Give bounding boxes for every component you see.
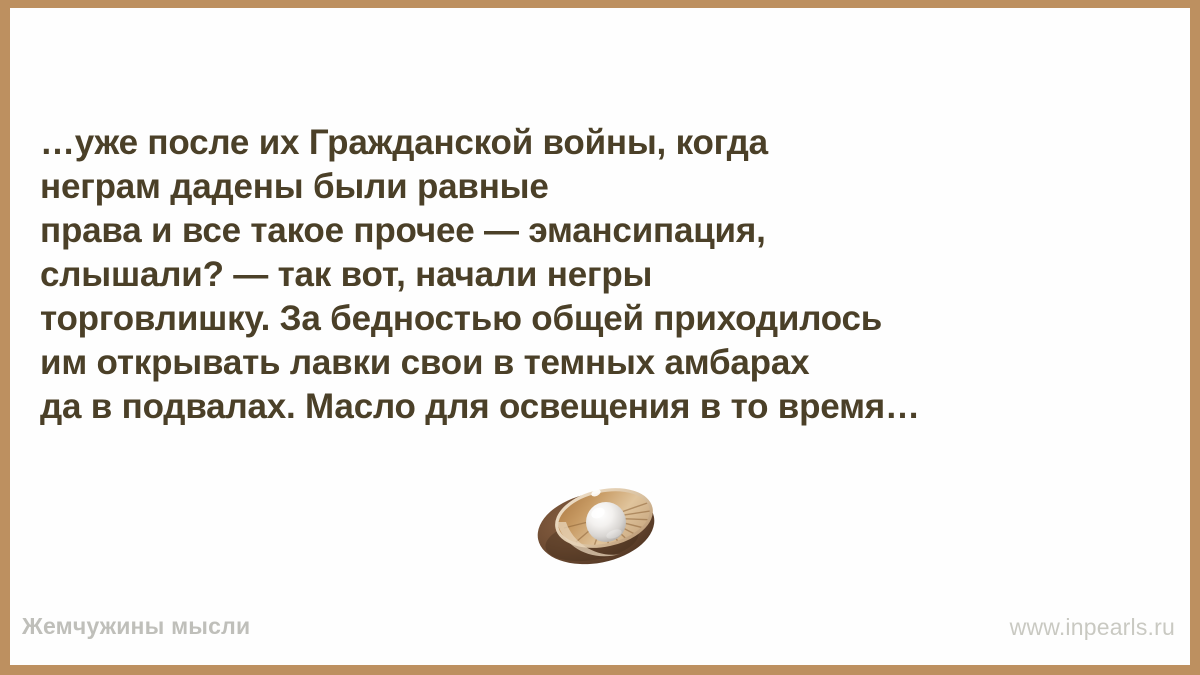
site-url-link[interactable]: www.inpearls.ru — [1010, 614, 1175, 641]
quote-canvas: …уже после их Гражданской войны, когда н… — [10, 8, 1190, 665]
pearl-in-oyster-shell-icon — [530, 478, 670, 570]
quote-text: …уже после их Гражданской войны, когда н… — [40, 121, 1180, 429]
site-name: Жемчужины мысли — [22, 613, 250, 640]
footer-bar: Жемчужины мысли www.inpearls.ru — [10, 605, 1190, 665]
quote-card: …уже после их Гражданской войны, когда н… — [0, 0, 1200, 675]
